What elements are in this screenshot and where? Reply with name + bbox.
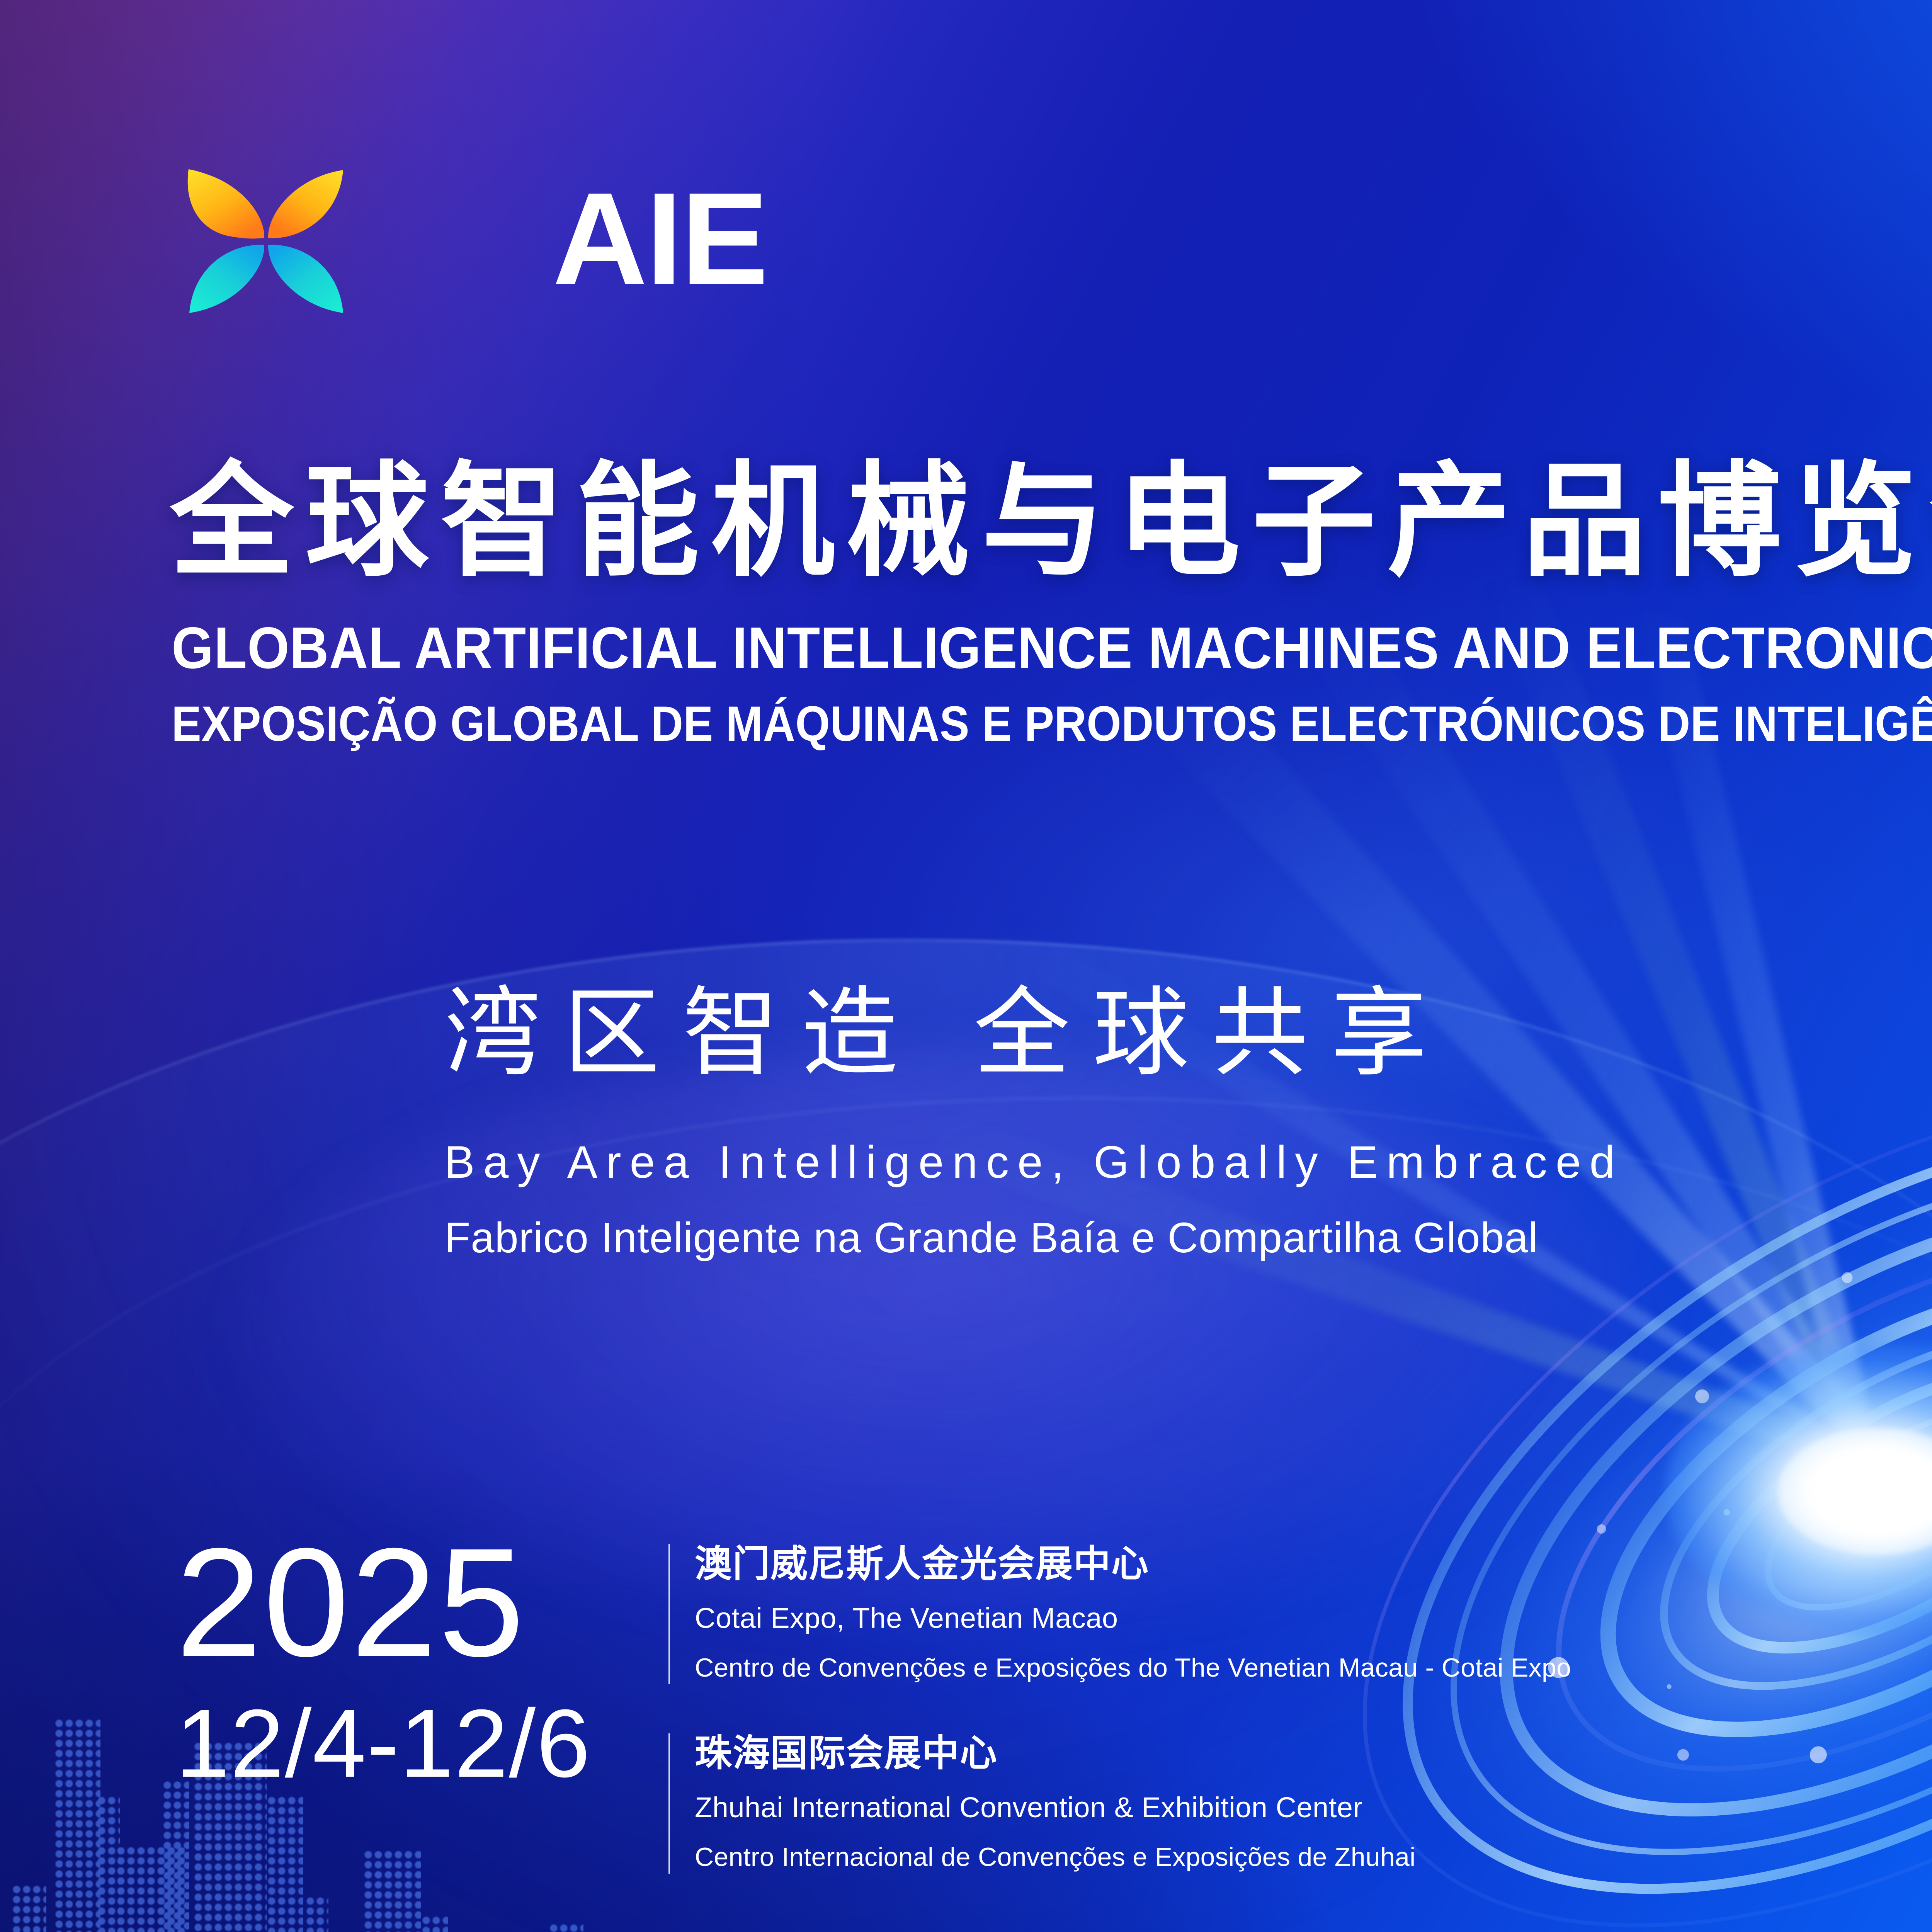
venue-macao-en: Cotai Expo, The Venetian Macao [695, 1596, 1571, 1641]
aie-butterfly-mark [182, 158, 522, 321]
tagline-cn: 湾区智造 全球共享 [444, 954, 1449, 1094]
event-date-block: 2025 12/4-12/6 [176, 1528, 601, 1794]
venue-zhuhai-pt: Centro Internacional de Convenções e Exp… [695, 1837, 1416, 1878]
poster-canvas: AIE 全球智能机械与电子产品博览会 GLOBAL ARTIFICIAL INT… [0, 0, 1932, 1932]
tagline-pt: Fabrico Inteligente na Grande Baía e Com… [444, 1213, 1538, 1262]
venue-zhuhai-en: Zhuhai International Convention & Exhibi… [695, 1786, 1416, 1830]
tagline-en: Bay Area Intelligence, Globally Embraced [444, 1136, 1623, 1189]
event-year: 2025 [176, 1528, 601, 1677]
event-date-range: 12/4-12/6 [176, 1693, 601, 1794]
venue-zhuhai-cn: 珠海国际会展中心 [695, 1731, 1416, 1776]
brand-logo[interactable]: AIE [182, 158, 862, 321]
venue-macao-pt: Centro de Convenções e Exposições do The… [695, 1648, 1571, 1688]
venue-zhuhai: 珠海国际会展中心 Zhuhai International Convention… [668, 1731, 1416, 1878]
venue-macao-cn: 澳门威尼斯人金光会展中心 [695, 1542, 1571, 1586]
page-title-en: GLOBAL ARTIFICIAL INTELLIGENCE MACHINES … [172, 614, 1932, 682]
page-title-pt: EXPOSIÇÃO GLOBAL DE MÁQUINAS E PRODUTOS … [172, 696, 1932, 752]
logo-wordmark: AIE [553, 173, 767, 304]
page-title-cn: 全球智能机械与电子产品博览会 [170, 421, 1932, 600]
venue-macao: 澳门威尼斯人金光会展中心 Cotai Expo, The Venetian Ma… [668, 1542, 1571, 1688]
